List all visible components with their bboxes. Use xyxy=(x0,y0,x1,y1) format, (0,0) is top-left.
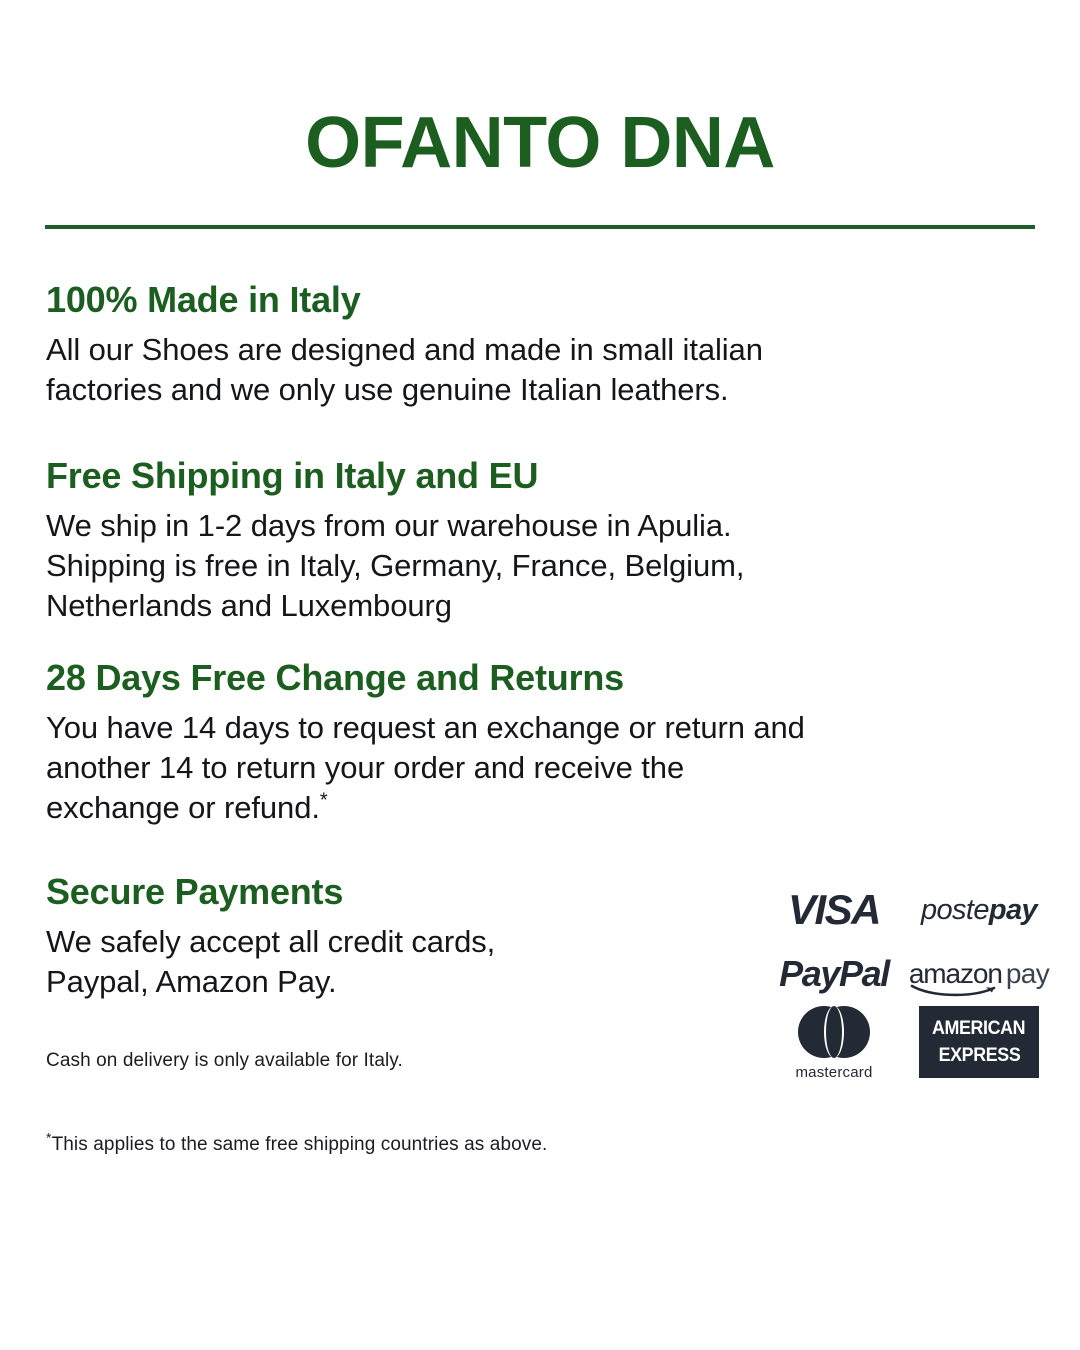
payment-logo-row: PayPal amazonpay xyxy=(764,942,1054,1006)
amazon-pay-logo: amazonpay xyxy=(904,960,1054,988)
amazon-part-pay: pay xyxy=(1006,958,1049,989)
body-line: another 14 to return your order and rece… xyxy=(46,748,1046,788)
american-express-logo: AMERICAN EXPRESS xyxy=(904,1006,1054,1078)
ofanto-dna-infographic: OFANTO DNA 100% Made in Italy All our Sh… xyxy=(0,0,1080,1350)
content-area: 100% Made in Italy All our Shoes are des… xyxy=(46,278,1046,1158)
section-body-made-in-italy: All our Shoes are designed and made in s… xyxy=(46,330,1046,410)
section-heading-returns: 28 Days Free Change and Returns xyxy=(46,656,1046,700)
section-made-in-italy: 100% Made in Italy All our Shoes are des… xyxy=(46,278,1046,410)
header: OFANTO DNA xyxy=(0,104,1080,182)
body-line-text: exchange or refund. xyxy=(46,790,320,825)
page-title: OFANTO DNA xyxy=(0,104,1080,182)
footnote-text: This applies to the same free shipping c… xyxy=(52,1134,548,1155)
amex-line-express: EXPRESS xyxy=(938,1041,1020,1068)
body-line-with-footnote: exchange or refund.* xyxy=(46,788,1046,828)
postepay-part-poste: poste xyxy=(921,894,989,926)
body-line: Paypal, Amazon Pay. xyxy=(46,962,686,1002)
section-returns: 28 Days Free Change and Returns You have… xyxy=(46,656,1046,828)
body-line: You have 14 days to request an exchange … xyxy=(46,708,1046,748)
postepay-logo: postepay xyxy=(904,896,1054,925)
footnote-note: *This applies to the same free shipping … xyxy=(46,1132,686,1158)
payment-logos: VISA postepay PayPal amazonpay xyxy=(764,878,1054,1092)
mastercard-circle-overlap xyxy=(824,1006,844,1058)
footnote-marker: * xyxy=(320,790,328,812)
section-heading-secure-payments: Secure Payments xyxy=(46,870,686,914)
body-line: All our Shoes are designed and made in s… xyxy=(46,330,1046,370)
payment-logo-row: VISA postepay xyxy=(764,878,1054,942)
amex-line-american: AMERICAN xyxy=(932,1017,1025,1041)
visa-logo: VISA xyxy=(764,889,904,931)
section-body-secure-payments: We safely accept all credit cards, Paypa… xyxy=(46,922,686,1002)
visa-wordmark-text: VISA xyxy=(788,889,880,931)
section-body-returns: You have 14 days to request an exchange … xyxy=(46,708,1046,828)
section-heading-made-in-italy: 100% Made in Italy xyxy=(46,278,1046,322)
body-line: Netherlands and Luxembourg xyxy=(46,586,1046,626)
mastercard-mark: mastercard xyxy=(795,1006,872,1081)
section-secure-payments: Secure Payments We safely accept all cre… xyxy=(46,870,1046,1158)
title-divider xyxy=(45,225,1035,229)
mastercard-circles-icon xyxy=(798,1006,870,1058)
body-line: We safely accept all credit cards, xyxy=(46,922,686,962)
section-body-free-shipping: We ship in 1-2 days from our warehouse i… xyxy=(46,506,1046,626)
paypal-logo: PayPal xyxy=(764,956,904,992)
amazon-pay-wordmark-text: amazonpay xyxy=(909,960,1049,988)
amazon-smile-arrow-icon xyxy=(910,983,1002,997)
body-line: We ship in 1-2 days from our warehouse i… xyxy=(46,506,1046,546)
amex-mark: AMERICAN EXPRESS xyxy=(919,1006,1039,1078)
cash-on-delivery-note: Cash on delivery is only available for I… xyxy=(46,1048,686,1074)
payment-logo-row: mastercard AMERICAN EXPRESS xyxy=(764,1006,1054,1092)
paypal-wordmark-text: PayPal xyxy=(779,956,889,992)
mastercard-logo: mastercard xyxy=(764,1006,904,1081)
postepay-part-pay: pay xyxy=(989,894,1037,926)
body-line: Shipping is free in Italy, Germany, Fran… xyxy=(46,546,1046,586)
body-line: factories and we only use genuine Italia… xyxy=(46,370,1046,410)
postepay-wordmark-text: postepay xyxy=(921,896,1037,925)
section-free-shipping: Free Shipping in Italy and EU We ship in… xyxy=(46,454,1046,626)
secure-payments-text: Secure Payments We safely accept all cre… xyxy=(46,870,686,1158)
mastercard-label: mastercard xyxy=(795,1064,872,1081)
section-heading-free-shipping: Free Shipping in Italy and EU xyxy=(46,454,1046,498)
